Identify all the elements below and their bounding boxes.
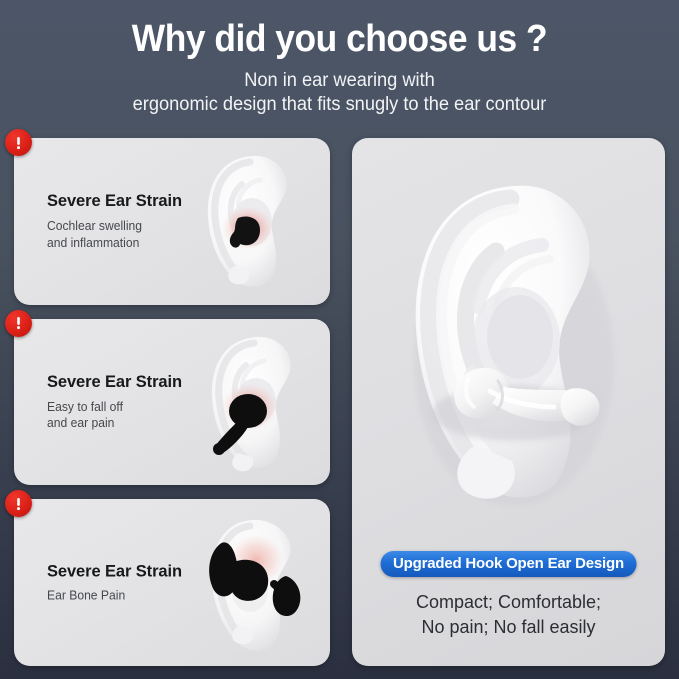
- problem-card-text: Severe Ear Strain Easy to fall off and e…: [47, 372, 197, 432]
- problem-card-subtext-line-2: and ear pain: [47, 415, 193, 432]
- warning-exclamation-icon: [5, 310, 32, 337]
- problem-card-subtext-line-1: Cochlear swelling: [47, 218, 193, 235]
- page-title: Why did you choose us ?: [24, 20, 655, 60]
- problem-card-list: Severe Ear Strain Cochlear swelling and …: [14, 138, 330, 666]
- problem-card-subtext: Easy to fall off and ear pain: [47, 399, 193, 432]
- problem-card-subtext: Ear Bone Pain: [47, 588, 193, 605]
- problem-card-title: Severe Ear Strain: [47, 191, 193, 211]
- problem-card-text: Severe Ear Strain Cochlear swelling and …: [47, 191, 197, 251]
- problem-card-subtext-line-1: Easy to fall off: [47, 399, 193, 416]
- problem-card[interactable]: Severe Ear Strain Cochlear swelling and …: [14, 138, 330, 305]
- problem-card-title: Severe Ear Strain: [47, 561, 193, 581]
- warning-exclamation-icon: [5, 129, 32, 156]
- subtitle-line-1: Non in ear wearing with: [14, 69, 666, 93]
- page-header: Why did you choose us ? Non in ear weari…: [0, 0, 679, 118]
- page-subtitle: Non in ear wearing with ergonomic design…: [0, 69, 679, 118]
- feature-caption-line-2: No pain; No fall easily: [352, 615, 665, 640]
- ear-with-in-ear-tip-illustration: [186, 138, 326, 305]
- problem-card-text: Severe Ear Strain Ear Bone Pain: [47, 561, 197, 604]
- subtitle-line-2: ergonomic design that fits snugly to the…: [14, 93, 666, 117]
- problem-card-subtext-line-1: Ear Bone Pain: [47, 588, 193, 605]
- problem-card-subtext: Cochlear swelling and inflammation: [47, 218, 193, 251]
- ear-with-open-ear-hook-illustration: [352, 146, 665, 546]
- content-area: Severe Ear Strain Cochlear swelling and …: [14, 138, 665, 666]
- feature-caption: Compact; Comfortable; No pain; No fall e…: [352, 590, 665, 640]
- problem-card[interactable]: Severe Ear Strain Easy to fall off and e…: [14, 319, 330, 486]
- ear-with-bone-conduction-clip-illustration: [186, 499, 326, 666]
- feature-badge: Upgraded Hook Open Ear Design: [380, 551, 637, 577]
- problem-card[interactable]: Severe Ear Strain Ear Bone Pain: [14, 499, 330, 666]
- feature-caption-line-1: Compact; Comfortable;: [352, 590, 665, 615]
- ear-with-stem-earbud-illustration: [186, 319, 326, 486]
- warning-exclamation-icon: [5, 490, 32, 517]
- problem-card-title: Severe Ear Strain: [47, 372, 193, 392]
- feature-panel[interactable]: Upgraded Hook Open Ear Design Compact; C…: [352, 138, 665, 666]
- problem-card-subtext-line-2: and inflammation: [47, 235, 193, 252]
